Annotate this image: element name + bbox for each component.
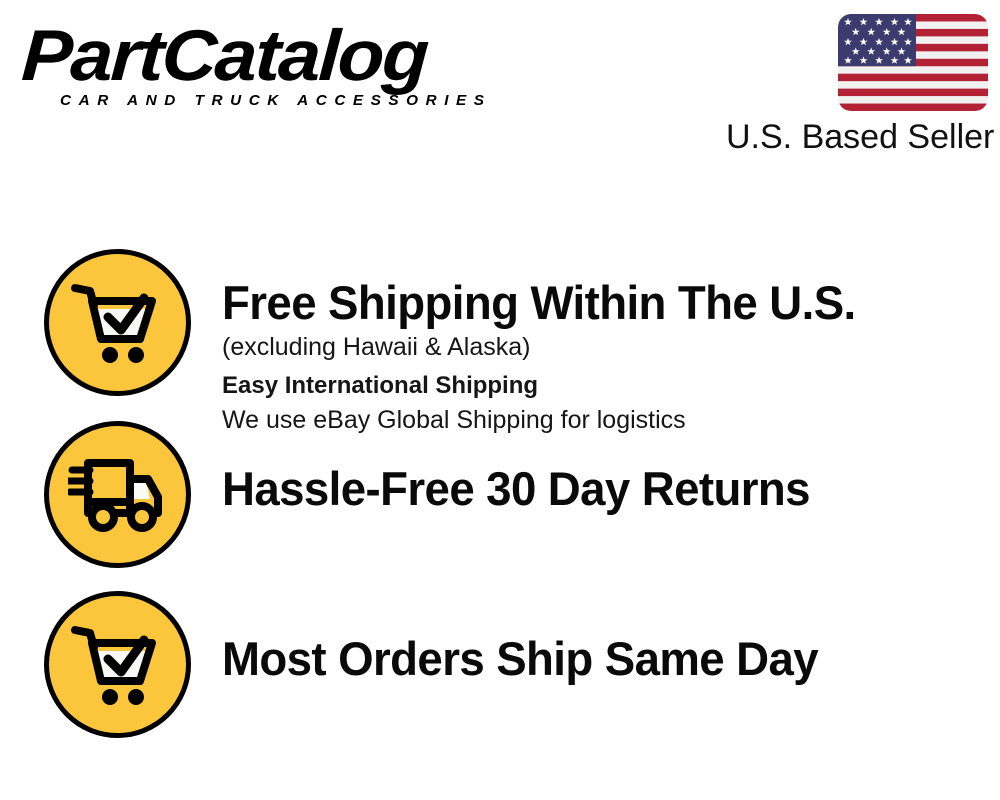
feature-icon-badge — [44, 249, 191, 396]
feature-text-block: Free Shipping Within The U.S. (excluding… — [222, 275, 982, 437]
feature-subtitle: (excluding Hawaii & Alaska) — [222, 330, 982, 364]
brand-tagline: CAR AND TRUCK ACCESSORIES — [60, 92, 492, 109]
shopping-cart-check-icon — [70, 279, 166, 367]
brand-logo[interactable]: PartCatalog CAR AND TRUCK ACCESSORIES — [22, 18, 492, 94]
feature-icon-badge — [44, 421, 191, 568]
feature-title: Most Orders Ship Same Day — [222, 631, 959, 686]
feature-text-block: Hassle-Free 30 Day Returns — [222, 461, 982, 516]
shopping-cart-check-icon — [70, 621, 166, 709]
feature-text-block: Most Orders Ship Same Day — [222, 631, 982, 686]
us-flag-badge — [838, 14, 988, 111]
delivery-truck-icon — [68, 455, 168, 535]
page-header: PartCatalog CAR AND TRUCK ACCESSORIES — [0, 0, 1000, 170]
brand-wordmark: PartCatalog — [20, 18, 522, 94]
feature-icon-badge — [44, 591, 191, 738]
us-flag-icon — [838, 14, 988, 111]
feature-subtitle-detail: We use eBay Global Shipping for logistic… — [222, 403, 982, 437]
feature-subtitle-strong: Easy International Shipping — [222, 369, 982, 403]
feature-title: Free Shipping Within The U.S. — [222, 275, 959, 330]
feature-title: Hassle-Free 30 Day Returns — [222, 461, 959, 516]
us-based-seller-label: U.S. Based Seller — [726, 117, 988, 157]
